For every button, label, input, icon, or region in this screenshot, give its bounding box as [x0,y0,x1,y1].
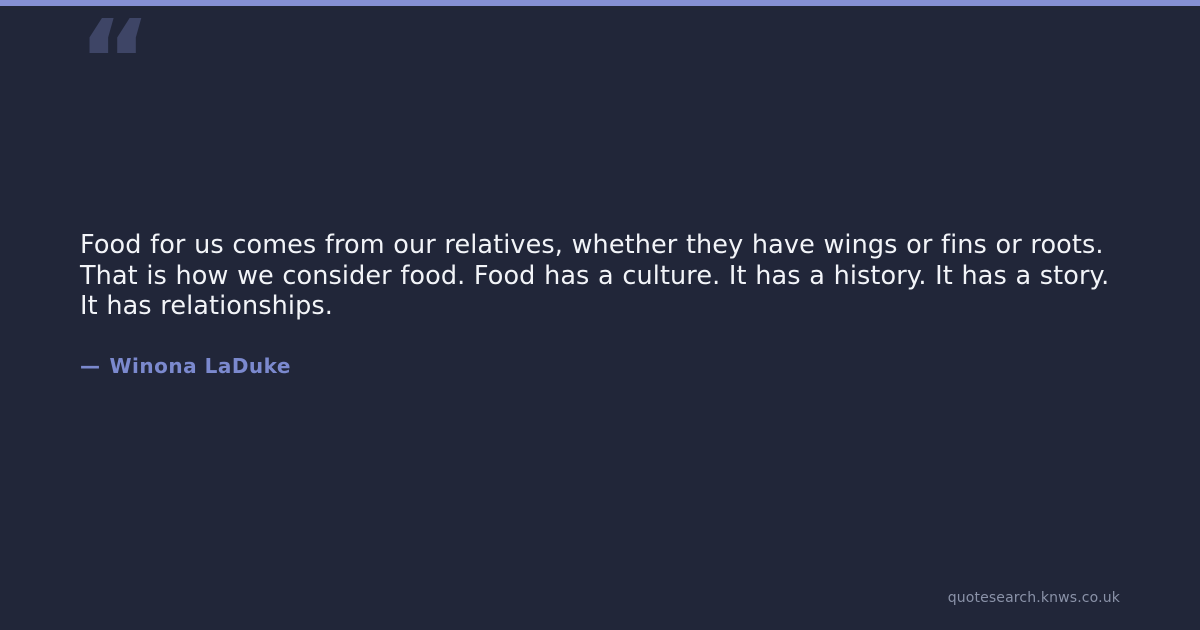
footer: quotesearch.knws.co.uk [948,587,1120,606]
top-accent-bar [0,0,1200,6]
quote-text: Food for us comes from our relatives, wh… [80,230,1130,322]
quote-attribution: —Winona LaDuke [80,354,1130,378]
opening-quote-mark-icon: “ [78,6,150,118]
attribution-author-name: Winona LaDuke [110,354,292,378]
quote-card: “ Food for us comes from our relatives, … [0,0,1200,630]
attribution-dash: — [80,354,101,378]
quote-block: Food for us comes from our relatives, wh… [80,230,1130,378]
source-url-label: quotesearch.knws.co.uk [948,590,1120,606]
